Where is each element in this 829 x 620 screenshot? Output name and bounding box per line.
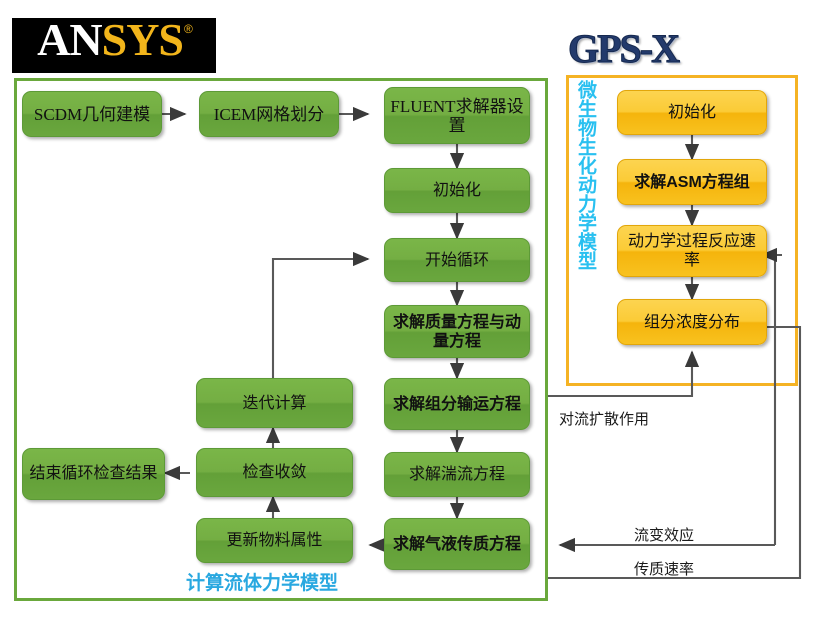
node-gx-asm-equations[interactable]: 求解ASM方程组 bbox=[617, 159, 767, 205]
node-check-convergence-label: 检查收敛 bbox=[242, 463, 306, 482]
edge-label-rheology-effect: 流变效应 bbox=[634, 524, 694, 545]
edge-label-advection-diffusion: 对流扩散作用 bbox=[559, 408, 649, 429]
node-gx-concentration[interactable]: 组分浓度分布 bbox=[617, 299, 767, 345]
node-mass-momentum-label: 求解质量方程与动量方程 bbox=[389, 313, 525, 351]
node-mass-momentum[interactable]: 求解质量方程与动量方程 bbox=[384, 305, 530, 358]
cfd-panel-caption: 计算流体力学模型 bbox=[186, 571, 386, 597]
node-species-transport-label: 求解组分输运方程 bbox=[393, 395, 521, 414]
node-scdm-label: SCDM几何建模 bbox=[34, 105, 150, 124]
node-update-material-label: 更新物料属性 bbox=[226, 531, 322, 550]
node-loop-end[interactable]: 结束循环检查结果 bbox=[22, 448, 165, 500]
node-gas-liquid-mass-transfer-label: 求解气液传质方程 bbox=[393, 535, 521, 554]
node-gx-kinetic-rate-label: 动力学过程反应速率 bbox=[622, 232, 762, 270]
node-icem[interactable]: ICEM网格划分 bbox=[199, 91, 339, 137]
node-species-transport[interactable]: 求解组分输运方程 bbox=[384, 378, 530, 430]
gpsx-panel-caption: 微生物生化动力学模型 bbox=[572, 80, 598, 380]
ansys-logo: ANSYS® bbox=[12, 18, 216, 73]
node-icem-label: ICEM网格划分 bbox=[214, 105, 325, 124]
node-scdm[interactable]: SCDM几何建模 bbox=[22, 91, 162, 137]
node-gx-asm-equations-label: 求解ASM方程组 bbox=[634, 173, 750, 192]
edge-label-mass-transfer-rate: 传质速率 bbox=[634, 558, 694, 579]
gpsx-logo: GPS-X bbox=[568, 26, 718, 72]
node-fluent-setup-label: FLUENT求解器设置 bbox=[389, 97, 525, 135]
node-gx-initialization[interactable]: 初始化 bbox=[617, 90, 767, 135]
node-gx-initialization-label: 初始化 bbox=[668, 103, 716, 122]
edge-masstrans-to-gxkin bbox=[767, 255, 775, 545]
registered-mark-icon: ® bbox=[184, 22, 192, 36]
node-initialization[interactable]: 初始化 bbox=[384, 168, 530, 213]
edge-species-to-gxconc bbox=[548, 352, 692, 396]
diagram-canvas: ANSYS® GPS-X 计算流体力学模型 微生物生化动力学模型 SCDM几何建… bbox=[0, 0, 829, 620]
node-turbulence-label: 求解湍流方程 bbox=[409, 465, 505, 484]
node-update-material[interactable]: 更新物料属性 bbox=[196, 518, 353, 563]
node-loop-start[interactable]: 开始循环 bbox=[384, 238, 530, 282]
node-gx-kinetic-rate[interactable]: 动力学过程反应速率 bbox=[617, 225, 767, 277]
node-initialization-label: 初始化 bbox=[433, 181, 481, 200]
node-gas-liquid-mass-transfer[interactable]: 求解气液传质方程 bbox=[384, 518, 530, 570]
node-loop-end-label: 结束循环检查结果 bbox=[29, 463, 157, 485]
node-fluent-setup[interactable]: FLUENT求解器设置 bbox=[384, 87, 530, 144]
node-check-convergence[interactable]: 检查收敛 bbox=[196, 448, 353, 497]
node-iterate-label: 迭代计算 bbox=[242, 394, 306, 413]
edge-iterate-to-loopstart bbox=[273, 259, 368, 378]
ansys-logo-part2: SYS bbox=[102, 14, 183, 65]
node-turbulence[interactable]: 求解湍流方程 bbox=[384, 452, 530, 497]
node-gx-concentration-label: 组分浓度分布 bbox=[644, 313, 740, 332]
gpsx-logo-text: GPS-X bbox=[568, 29, 678, 69]
node-iterate[interactable]: 迭代计算 bbox=[196, 378, 353, 428]
node-loop-start-label: 开始循环 bbox=[425, 251, 489, 270]
ansys-logo-part1: AN bbox=[37, 14, 101, 65]
